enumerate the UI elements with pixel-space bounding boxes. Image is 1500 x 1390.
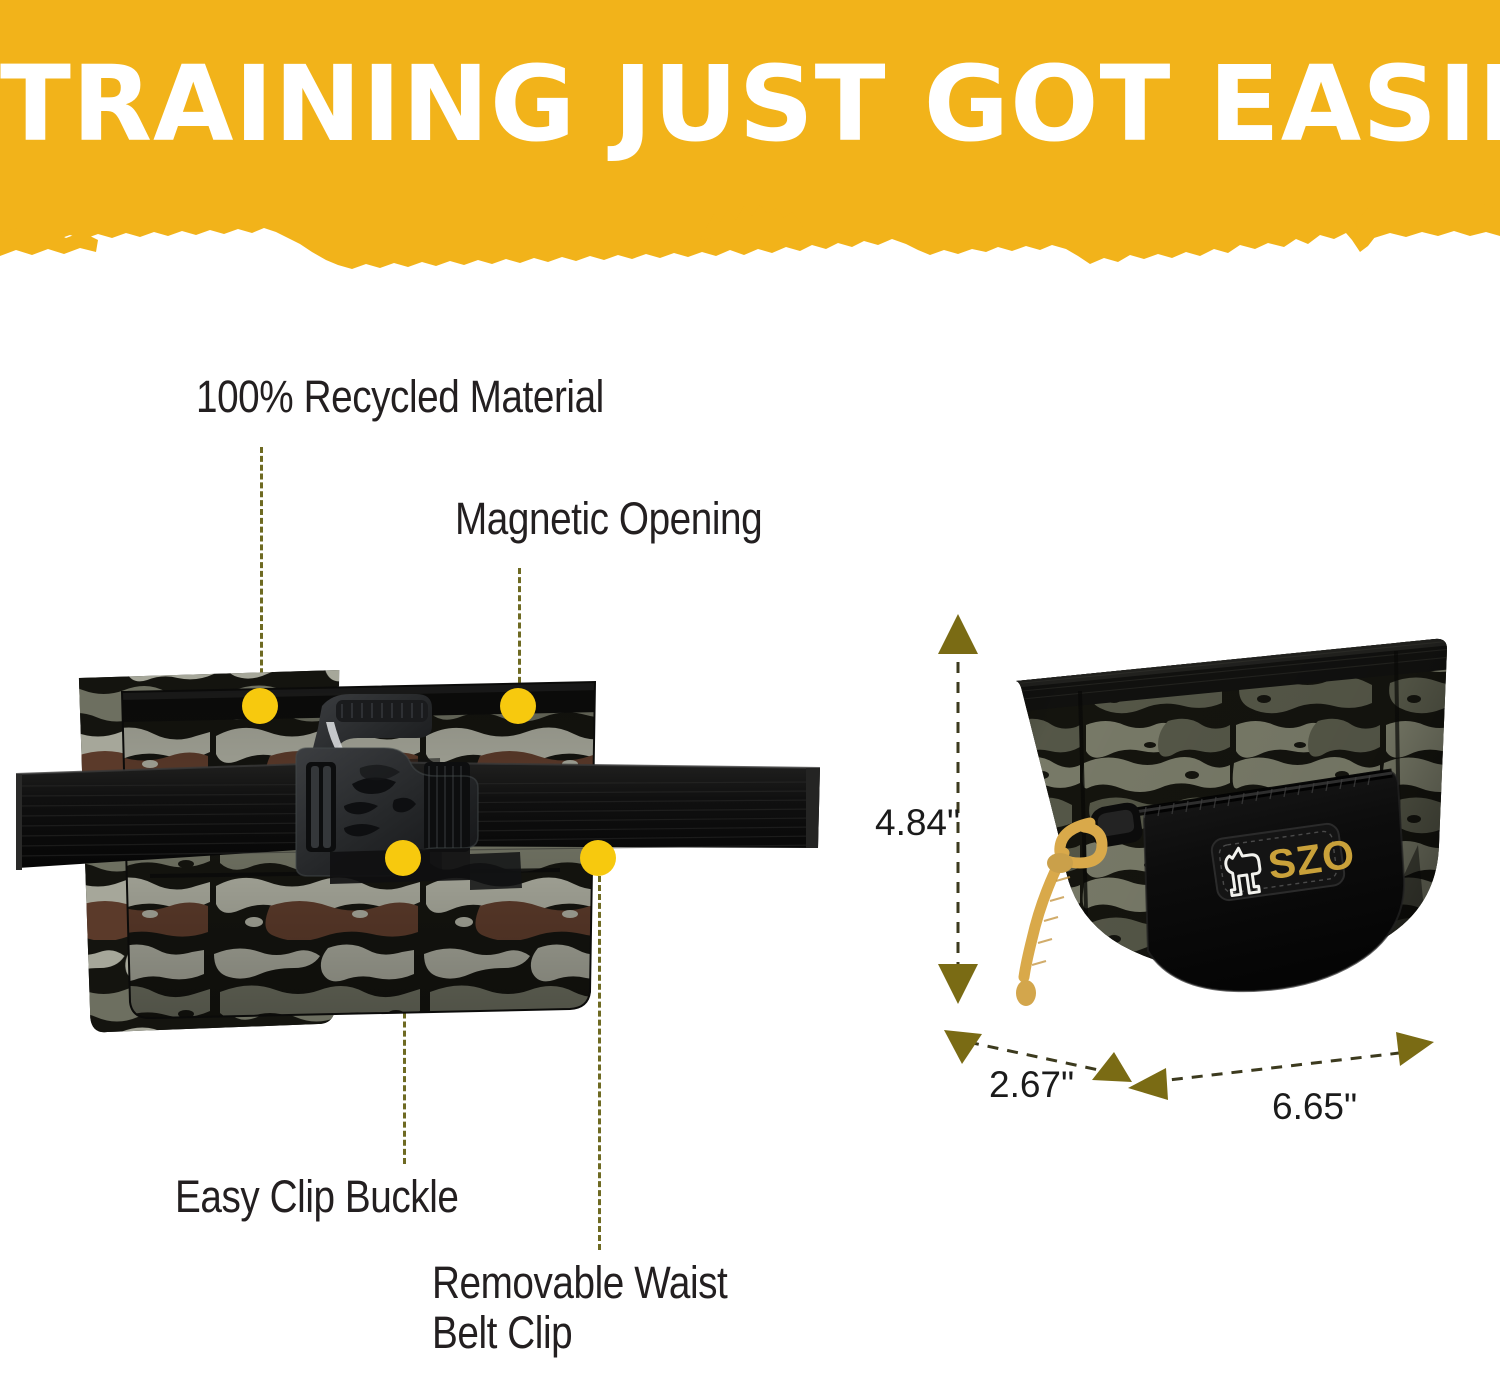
callout-label-removable-waist-belt-clip: Removable Waist Belt Clip [432, 1258, 727, 1359]
banner-title: TRAINING JUST GOT EASIER [0, 52, 1500, 156]
callout-label-easy-clip-buckle: Easy Clip Buckle [175, 1172, 458, 1222]
callout-label-magnetic-opening: Magnetic Opening [455, 494, 762, 544]
dimension-label-width: 6.65" [1272, 1086, 1357, 1128]
callout-dot-magnetic [500, 688, 536, 724]
callout-dot-waist [580, 840, 616, 876]
callout-dot-recycled [242, 688, 278, 724]
callout-dot-buckle [385, 840, 421, 876]
callout-label-recycled-material: 100% Recycled Material [196, 372, 604, 422]
dimension-label-height: 4.84" [875, 802, 960, 844]
header-banner: TRAINING JUST GOT EASIER [0, 0, 1500, 290]
dimension-label-depth: 2.67" [989, 1064, 1074, 1106]
dimension-annotations [840, 590, 1500, 1150]
product-image-camo-pouch-front [0, 640, 840, 1060]
